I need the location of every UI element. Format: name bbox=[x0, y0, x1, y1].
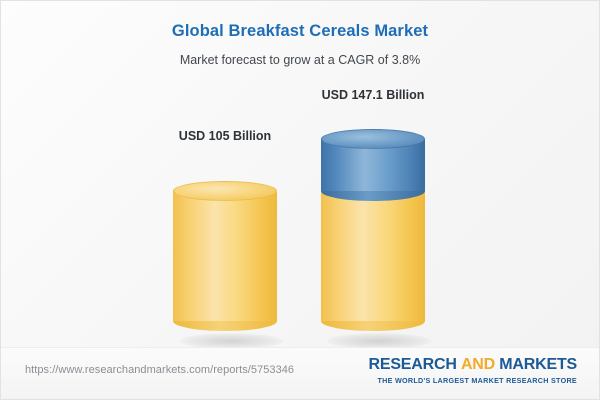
logo-word-research: RESEARCH bbox=[369, 356, 457, 373]
cylinder-cap bbox=[173, 181, 277, 201]
chart-title: Global Breakfast Cereals Market bbox=[1, 21, 599, 41]
cylinder-2032[interactable] bbox=[321, 139, 425, 321]
footer: https://www.researchandmarkets.com/repor… bbox=[1, 347, 599, 399]
cylinder-cap bbox=[321, 129, 425, 149]
bar-value-label: USD 105 Billion bbox=[145, 129, 305, 143]
cylinder-body bbox=[321, 191, 425, 321]
chart-subtitle: Market forecast to grow at a CAGR of 3.8… bbox=[1, 41, 599, 68]
logo-word-and: AND bbox=[461, 356, 495, 373]
logo-word-markets: MARKETS bbox=[499, 356, 577, 373]
chart-header: Global Breakfast Cereals Market Market f… bbox=[1, 1, 599, 68]
logo-wordmark: RESEARCH AND MARKETS bbox=[369, 356, 578, 374]
cylinder-body bbox=[173, 191, 277, 321]
bar-group-2032: USD 147.1 Billion 2032 bbox=[293, 81, 453, 341]
report-url[interactable]: https://www.researchandmarkets.com/repor… bbox=[25, 364, 294, 376]
cylinder-segment-base bbox=[173, 191, 277, 321]
infographic-card: Global Breakfast Cereals Market Market f… bbox=[0, 0, 600, 400]
cylinder-segment-base bbox=[321, 191, 425, 321]
bar-value-label: USD 147.1 Billion bbox=[293, 88, 453, 102]
research-and-markets-logo[interactable]: RESEARCH AND MARKETS THE WORLD'S LARGEST… bbox=[369, 356, 578, 386]
logo-tagline: THE WORLD'S LARGEST MARKET RESEARCH STOR… bbox=[369, 374, 578, 386]
cylinder-segment-growth bbox=[321, 139, 425, 191]
bar-group-2023: USD 105 Billion 2023 bbox=[145, 81, 305, 341]
cylinder-2023[interactable] bbox=[173, 191, 277, 321]
chart-plot-area: USD 105 Billion 2023 USD 147.1 Billion bbox=[1, 81, 599, 341]
